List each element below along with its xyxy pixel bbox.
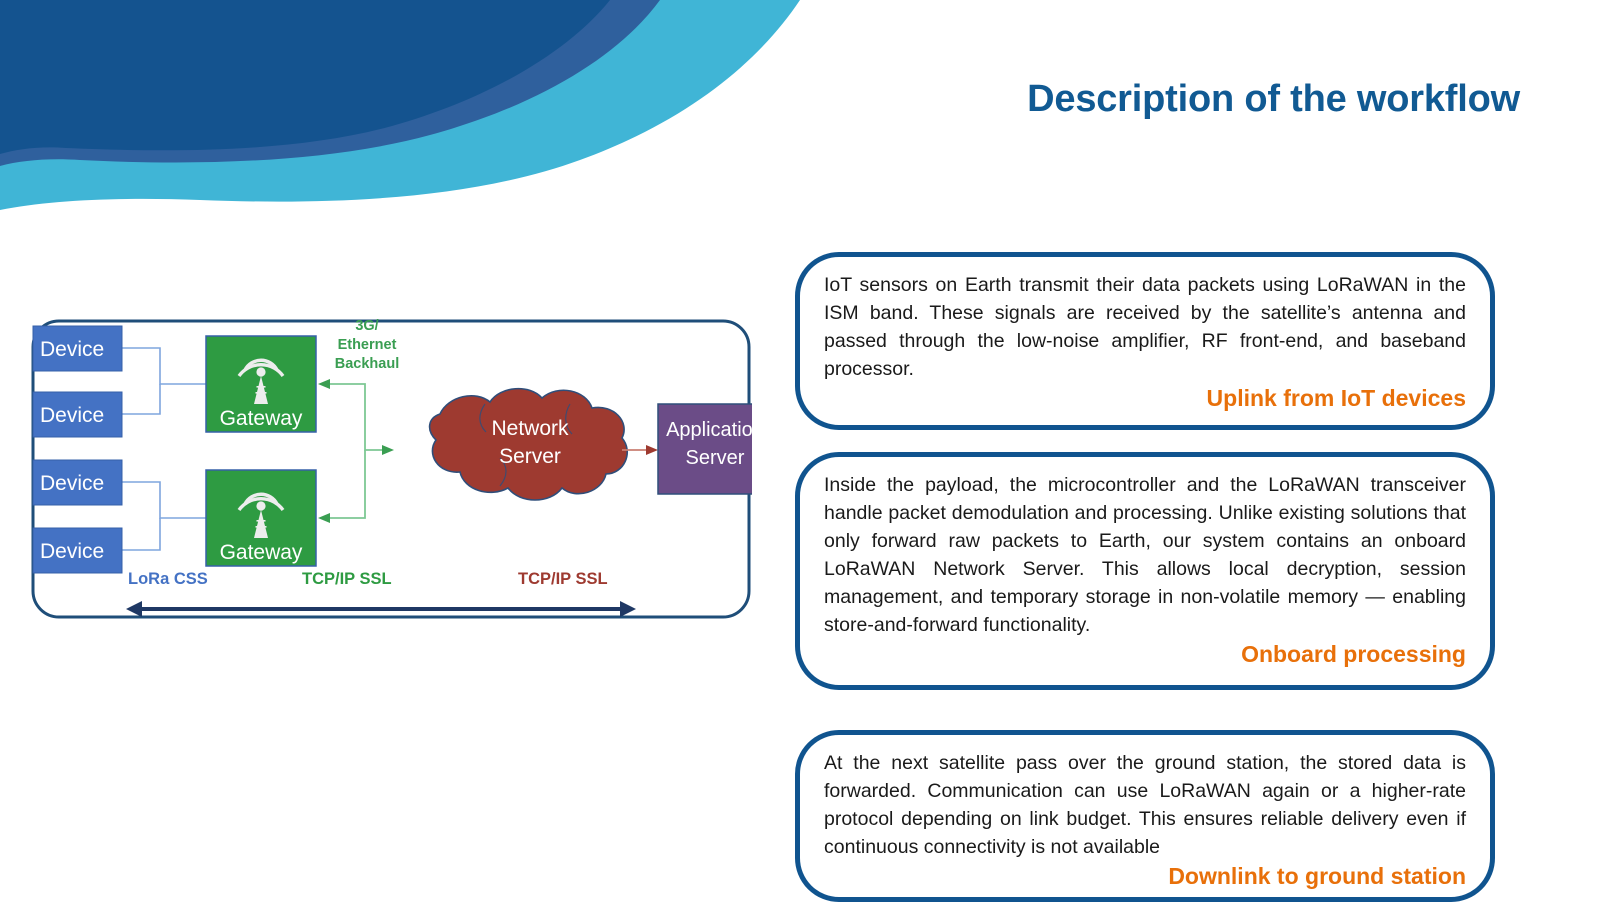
callout-uplink-label: Uplink from IoT devices bbox=[824, 385, 1466, 412]
application-server-label-line2: Server bbox=[686, 447, 745, 469]
protocol-label-lora-css: LoRa CSS bbox=[128, 570, 208, 588]
network-server-label-line2: Server bbox=[499, 445, 561, 468]
device-box-3: Device bbox=[33, 460, 122, 505]
gateway-box-1: Gateway bbox=[206, 336, 316, 432]
device-box-1: Device bbox=[33, 326, 122, 371]
application-server-label-line1: Application bbox=[666, 419, 752, 441]
device-box-2: Device bbox=[33, 392, 122, 437]
device-label-1: Device bbox=[40, 338, 104, 361]
protocol-label-tcpip-ssl-gateway: TCP/IP SSL bbox=[302, 570, 392, 588]
callout-onboard-label: Onboard processing bbox=[824, 641, 1466, 668]
lorawan-architecture-diagram: Device Device Device Device Gateway bbox=[30, 318, 752, 620]
wave-cyan-layer bbox=[0, 0, 800, 210]
callout-uplink-body: IoT sensors on Earth transmit their data… bbox=[824, 271, 1466, 383]
backhaul-label-line3: Backhaul bbox=[335, 356, 399, 372]
network-server-label-line1: Network bbox=[491, 417, 569, 440]
backhaul-label-line1: 3G/ bbox=[355, 318, 378, 334]
callout-uplink: IoT sensors on Earth transmit their data… bbox=[795, 252, 1495, 430]
gateway-label-1: Gateway bbox=[220, 407, 303, 430]
device-box-4: Device bbox=[33, 528, 122, 573]
gateway-label-2: Gateway bbox=[220, 541, 303, 564]
gateway-box-2: Gateway bbox=[206, 470, 316, 566]
device-label-4: Device bbox=[40, 540, 104, 563]
wave-dark-navy-layer bbox=[0, 0, 610, 154]
callout-downlink-label: Downlink to ground station bbox=[824, 863, 1466, 890]
application-server-box: Application Server bbox=[658, 404, 752, 494]
callout-downlink-body: At the next satellite pass over the grou… bbox=[824, 749, 1466, 861]
protocol-label-tcpip-ssl-appserver: TCP/IP SSL bbox=[518, 570, 608, 588]
corner-wave-decoration bbox=[0, 0, 800, 215]
callout-onboard-processing: Inside the payload, the microcontroller … bbox=[795, 452, 1495, 690]
device-label-3: Device bbox=[40, 472, 104, 495]
page-title: Description of the workflow bbox=[700, 78, 1520, 121]
callout-downlink: At the next satellite pass over the grou… bbox=[795, 730, 1495, 902]
device-label-2: Device bbox=[40, 404, 104, 427]
callout-onboard-body: Inside the payload, the microcontroller … bbox=[824, 471, 1466, 639]
backhaul-label-line2: Ethernet bbox=[338, 337, 397, 353]
wave-medium-blue-layer bbox=[0, 0, 660, 166]
